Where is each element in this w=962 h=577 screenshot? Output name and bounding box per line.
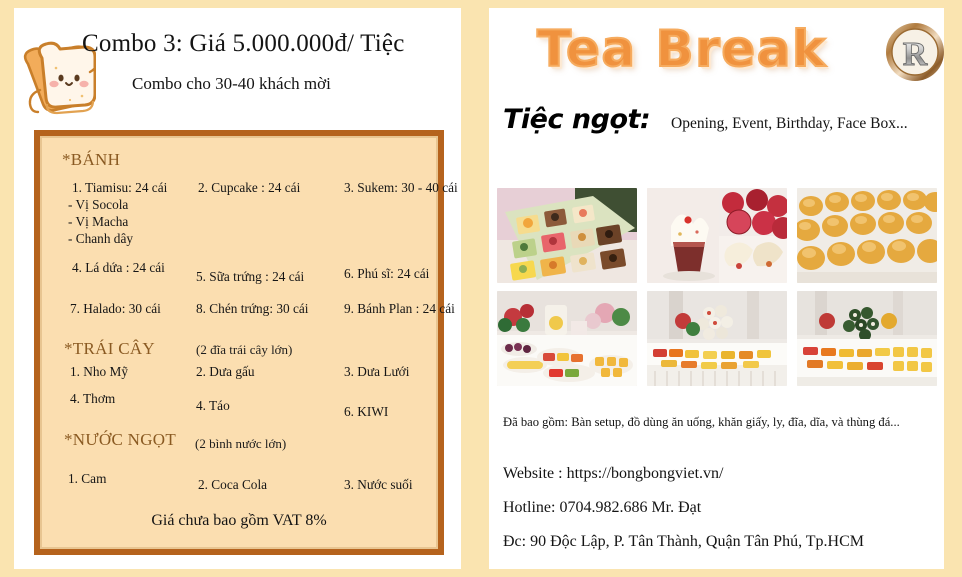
menu-item-banh-4: 4. Lá dứa : 24 cái [72,260,165,276]
photo-gallery [497,188,937,386]
section-note-trai-cay: (2 đĩa trái cây lớn) [196,342,292,358]
photo-petit-fours-tray [497,188,637,283]
menu-item-fruit-5: 4. Táo [196,398,230,414]
menu-item-fruit-1: 1. Nho Mỹ [70,364,128,380]
menu-inner: *BÁNH 1. Tiamisu: 24 cái 2. Cupcake : 24… [40,136,438,549]
vat-note: Giá chưa bao gồm VAT 8% [40,512,438,530]
menu-item-banh-2: 2. Cupcake : 24 cái [198,180,300,196]
sweet-party-label: Tiệc ngọt: [503,104,650,135]
menu-item-banh-6: 6. Phú sĩ: 24 cái [344,266,429,282]
banh-flavor-3: - Chanh dây [68,231,133,247]
address-line: Đc: 90 Độc Lập, P. Tân Thành, Quận Tân P… [503,533,864,551]
menu-item-fruit-2: 2. Dưa gấu [196,364,255,380]
menu-item-drink-1: 1. Cam [68,471,106,487]
sweet-party-occasions: Opening, Event, Birthday, Face Box... [671,115,908,133]
section-heading-banh: *BÁNH [62,150,120,170]
section-note-nuoc-ngot: (2 bình nước lớn) [195,436,286,452]
menu-item-fruit-3: 3. Dưa Lưới [344,364,409,380]
svg-text:R: R [903,36,928,73]
combo-header: Combo 3: Giá 5.000.000đ/ Tiệc Combo cho … [14,8,461,118]
menu-box: *BÁNH 1. Tiamisu: 24 cái 2. Cupcake : 24… [34,130,444,555]
hotline-line[interactable]: Hotline: 0704.982.686 Mr. Đạt [503,499,701,517]
menu-item-drink-3: 3. Nước suối [344,477,413,493]
menu-item-banh-5: 5. Sữa trứng : 24 cái [196,269,304,285]
menu-item-fruit-6: 6. KIWI [344,404,388,420]
menu-item-banh-7: 7. Halado: 30 cái [70,301,161,317]
website-line[interactable]: Website : https://bongbongviet.vn/ [503,465,723,483]
menu-item-fruit-4: 4. Thơm [70,391,115,407]
included-note: Đã bao gồm: Bàn setup, đồ dùng ăn uống, … [503,413,923,431]
menu-item-banh-3: 3. Sukem: 30 - 40 cái [344,180,458,196]
combo-title: Combo 3: Giá 5.000.000đ/ Tiệc [82,30,405,58]
photo-cupcakes-macarons [647,188,787,283]
menu-item-banh-8: 8. Chén trứng: 30 cái [196,301,308,317]
right-info-panel: Tea Break [489,8,944,569]
photo-dessert-table-fruit [497,291,637,386]
section-heading-nuoc-ngot: *NƯỚC NGỌT [64,430,176,450]
photo-cream-puffs [797,188,937,283]
banh-flavor-1: - Vị Socola [68,197,128,213]
menu-item-banh-1: 1. Tiamisu: 24 cái [72,180,167,196]
registered-trademark-seal-icon: R [884,21,946,83]
flyer-page: Combo 3: Giá 5.000.000đ/ Tiệc Combo cho … [0,0,962,577]
combo-subtitle: Combo cho 30-40 khách mời [132,74,331,94]
section-heading-trai-cay: *TRÁI CÂY [64,339,155,359]
brand-header: Tea Break [489,8,944,96]
photo-party-buffet-table [647,291,787,386]
photo-catering-spread [797,291,937,386]
menu-item-drink-2: 2. Coca Cola [198,477,267,493]
left-menu-panel: Combo 3: Giá 5.000.000đ/ Tiệc Combo cho … [14,8,461,569]
banh-flavor-2: - Vị Macha [68,214,128,230]
brand-logo-text: Tea Break [537,20,827,78]
menu-item-banh-9: 9. Bánh Plan : 24 cái [344,301,455,317]
